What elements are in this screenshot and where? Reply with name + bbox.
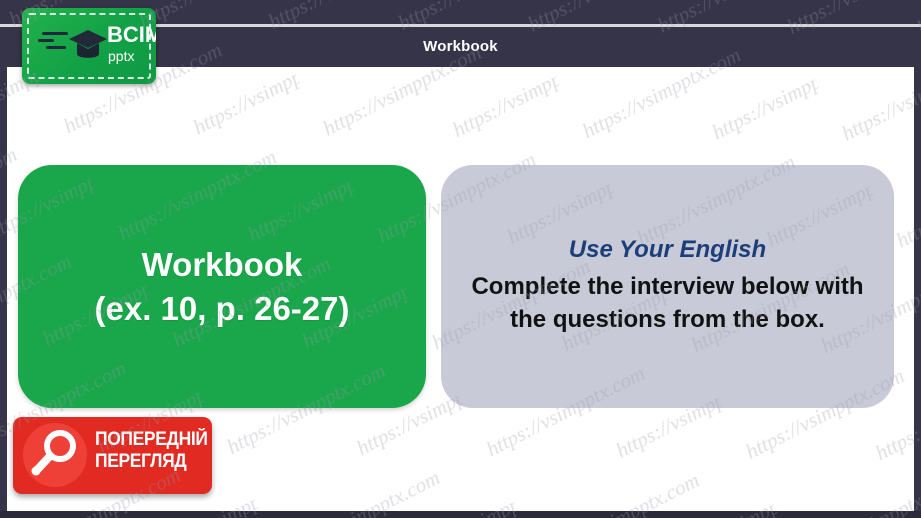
task-card: Use Your English Complete the interview … (441, 165, 894, 408)
workbook-card-line-1: Workbook (142, 243, 303, 287)
brand-logo[interactable]: BCIM pptx (22, 8, 156, 84)
preview-badge-line-2: ПЕРЕГЛЯД (95, 451, 198, 473)
task-card-heading: Use Your English (569, 236, 766, 264)
preview-badge-text: ПОПЕРЕДНІЙ ПЕРЕГЛЯД (95, 429, 198, 473)
workbook-card: Workbook (ex. 10, p. 26-27) (18, 165, 426, 408)
preview-badge-line-1: ПОПЕРЕДНІЙ (95, 429, 198, 451)
frame-edge-bottom (0, 511, 921, 518)
logo-brand-text: BCIM (107, 22, 156, 48)
workbook-card-line-2: (ex. 10, p. 26-27) (95, 287, 350, 331)
graduation-cap-icon (68, 26, 108, 66)
logo-sub-text: pptx (108, 48, 134, 64)
speed-lines-icon (38, 32, 68, 60)
frame-edge-left (0, 67, 7, 518)
preview-badge[interactable]: ПОПЕРЕДНІЙ ПЕРЕГЛЯД (13, 417, 212, 494)
slide-root: Workbook Workbook (ex. 10, p. 26-27) Use… (0, 0, 921, 518)
task-card-body: Complete the interview below with the qu… (453, 271, 882, 336)
frame-edge-right (914, 67, 921, 518)
magnifier-icon (23, 423, 87, 487)
